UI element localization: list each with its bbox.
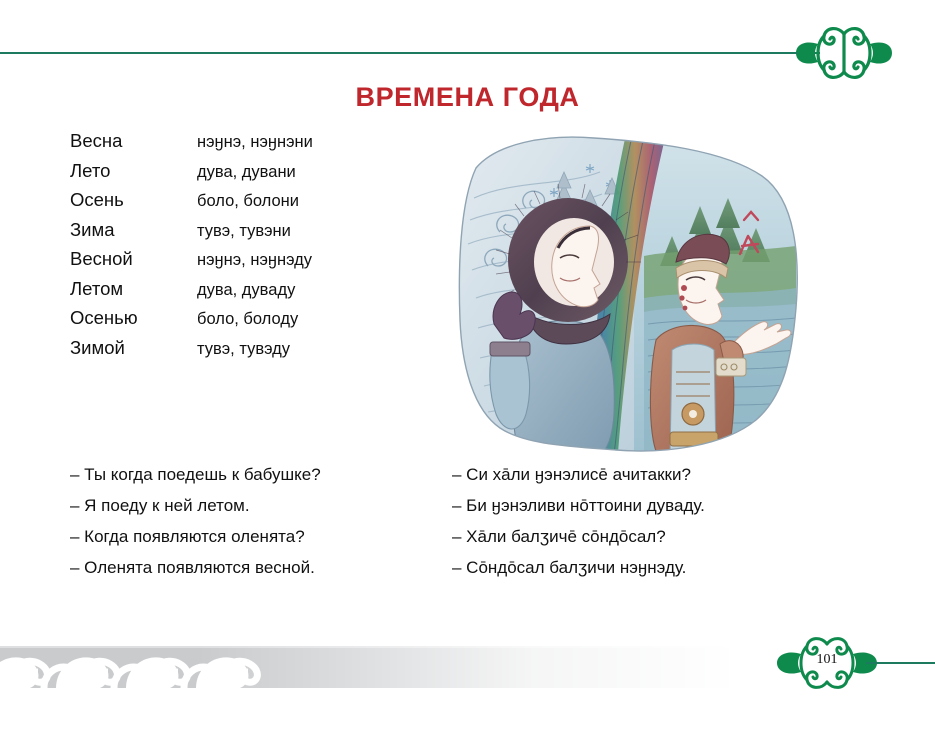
vocabulary-russian-term: Весной	[70, 249, 197, 268]
dialogue-line: – Ты когда поедешь к бабушке?	[70, 459, 321, 490]
vocabulary-evenki-term: дува, дувани	[197, 164, 296, 181]
dialogue-line: – Когда появляются оленята?	[70, 521, 321, 552]
vocabulary-russian-term: Осень	[70, 190, 197, 209]
vocabulary-row: Зима тувэ, тувэни	[70, 220, 390, 250]
seasons-illustration	[404, 128, 804, 458]
vocabulary-evenki-term: нэӈнэ, нэӈнэду	[197, 252, 312, 269]
page-title: ВРЕМЕНА ГОДА	[0, 82, 935, 113]
vocabulary-evenki-term: тувэ, тувэду	[197, 341, 290, 358]
dialogue-line: – Я поеду к ней летом.	[70, 490, 321, 521]
vocabulary-russian-term: Весна	[70, 131, 197, 150]
dialogue-evenki: – Си хāли ӈэнэлисē ачитакки? – Би ӈэнэли…	[452, 459, 705, 583]
vocabulary-evenki-term: нэӈнэ, нэӈнэни	[197, 134, 313, 151]
vocabulary-russian-term: Зимой	[70, 338, 197, 357]
vocabulary-row: Весной нэӈнэ, нэӈнэду	[70, 249, 390, 279]
vocabulary-row: Осень боло, болони	[70, 190, 390, 220]
vocabulary-russian-term: Осенью	[70, 308, 197, 327]
page-number: 101	[766, 652, 888, 668]
vocabulary-list: Весна нэӈнэ, нэӈнэни Лето дува, дувани О…	[70, 131, 390, 367]
footer-divider-rule	[866, 662, 935, 664]
dialogue-line: – Оленята появляются весной.	[70, 552, 321, 583]
vocabulary-evenki-term: тувэ, тувэни	[197, 223, 291, 240]
vocabulary-row: Летом дува, дуваду	[70, 279, 390, 309]
vocabulary-row: Лето дува, дувани	[70, 161, 390, 191]
dialogue-line: – Хāли балӡичē сōндōсал?	[452, 521, 705, 552]
dialogue-line: – Сōндōсал балӡичи нэӈнэду.	[452, 552, 705, 583]
vocabulary-row: Осенью боло, болоду	[70, 308, 390, 338]
vocabulary-evenki-term: боло, болони	[197, 193, 299, 210]
vocabulary-row: Зимой тувэ, тувэду	[70, 338, 390, 368]
footer-ornament-band	[0, 640, 760, 688]
vocabulary-evenki-term: дува, дуваду	[197, 282, 295, 299]
vocabulary-evenki-term: боло, болоду	[197, 311, 298, 328]
vocabulary-row: Весна нэӈнэ, нэӈнэни	[70, 131, 390, 161]
dialogue-line: – Си хāли ӈэнэлисē ачитакки?	[452, 459, 705, 490]
vocabulary-russian-term: Зима	[70, 220, 197, 239]
dialogue-russian: – Ты когда поедешь к бабушке? – Я поеду …	[70, 459, 321, 583]
vocabulary-russian-term: Лето	[70, 161, 197, 180]
top-divider-rule	[0, 52, 820, 54]
vocabulary-russian-term: Летом	[70, 279, 197, 298]
header-ornament-icon	[788, 22, 900, 84]
dialogue-line: – Би ӈэнэливи нōттоини дуваду.	[452, 490, 705, 521]
